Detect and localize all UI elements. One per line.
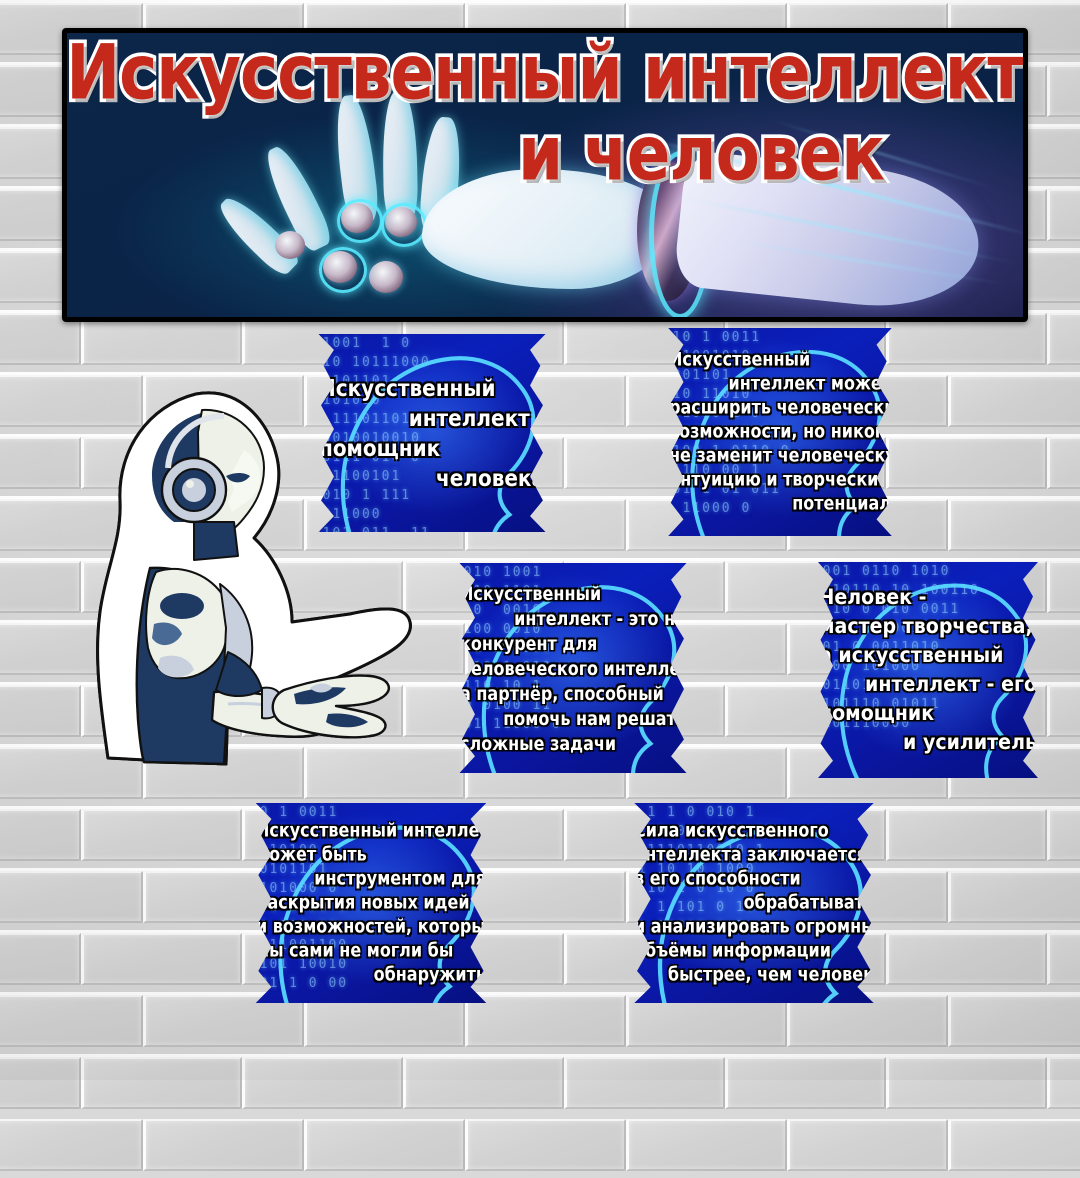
wall-tile	[1047, 189, 1080, 241]
info-card: 1001 0110 1010 10010110 10 100110 0110 0…	[803, 562, 1053, 778]
wall-tile	[0, 995, 143, 1047]
card-text: Человек -мастер творчества,а искусственн…	[803, 562, 1053, 778]
wall-tile	[0, 871, 143, 923]
card-line: сложные задачи	[460, 729, 616, 758]
wall-tile	[948, 871, 1080, 923]
tile-row	[0, 992, 1080, 1054]
wall-tile	[465, 995, 626, 1047]
wall-tile	[886, 1057, 1047, 1109]
card-line: Искусственный	[460, 579, 601, 608]
wall-tile	[725, 1057, 886, 1109]
robot-hand-image	[217, 91, 917, 321]
card-line: интеллект - это не	[514, 604, 686, 633]
wall-tile	[564, 1057, 725, 1109]
info-card: 0 1 0011 0 0001 1 11 10100 010101101 0 1…	[240, 803, 502, 1003]
wall-tile	[0, 809, 81, 861]
wall-tile	[0, 933, 81, 985]
card-line: быстрее, чем человек	[668, 961, 874, 988]
wall-tile	[787, 1119, 948, 1171]
wall-tile	[948, 375, 1080, 427]
card-text: Искусственный интеллектможет бытьинструм…	[240, 803, 502, 1003]
tile-row	[0, 1116, 1080, 1178]
poster-banner: Искусственный интеллект и человек	[62, 28, 1028, 322]
wall-tile	[948, 499, 1080, 551]
wall-tile	[1047, 809, 1080, 861]
wall-tile	[886, 437, 1047, 489]
wall-tile	[0, 685, 81, 737]
wall-tile	[0, 437, 81, 489]
card-line: и усилитель	[903, 726, 1037, 759]
wall-tile	[886, 809, 1047, 861]
wall-tile	[1047, 437, 1080, 489]
wall-tile	[143, 1119, 304, 1171]
wall-tile	[0, 1057, 81, 1109]
tile-row	[0, 1054, 1080, 1116]
card-line: а партнёр, способный	[460, 679, 664, 708]
wall-tile	[948, 1119, 1080, 1171]
wall-tile	[465, 1119, 626, 1171]
info-card: 1001 1 0 0110 10111000 010101101 0 10100…	[303, 334, 561, 532]
wall-tile	[1047, 933, 1080, 985]
wall-tile	[0, 561, 81, 613]
wall-tile	[304, 1119, 465, 1171]
card-line: конкурент для	[460, 629, 597, 658]
wall-tile	[81, 1057, 242, 1109]
card-line: обнаружить	[374, 961, 486, 988]
wall-tile	[403, 1057, 564, 1109]
info-card: 010 1001 0010 1101 010 0010 0100 0010 10…	[444, 563, 702, 773]
wall-tile	[1047, 313, 1080, 365]
tile-row	[0, 806, 1080, 868]
wall-tile	[242, 1057, 403, 1109]
info-card: 010 1 0011 01 1001010 1001101 010 11010 …	[653, 328, 907, 536]
wall-tile	[626, 1119, 787, 1171]
card-line: помощник	[319, 431, 440, 465]
card-text: Искусственныйинтеллект можетрасширить че…	[653, 328, 907, 536]
wall-tile	[1047, 685, 1080, 737]
tile-row	[0, 868, 1080, 930]
card-text: Искусственныйинтеллект - это неконкурент…	[444, 563, 702, 773]
tile-row	[0, 930, 1080, 992]
wall-tile	[1047, 561, 1080, 613]
card-text: Сила искусственногоинтеллекта заключаетс…	[618, 803, 890, 1003]
card-line: помочь нам решать	[503, 704, 686, 733]
wall-tile	[1047, 1057, 1080, 1109]
card-text: Искусственныйинтеллект -помощникчеловека	[303, 334, 561, 532]
card-line: человеческого интеллекта,	[460, 654, 702, 683]
wall-tile	[81, 809, 242, 861]
wall-tile	[948, 995, 1080, 1047]
wall-tile	[465, 871, 626, 923]
wall-tile	[81, 933, 242, 985]
wall-tile	[1047, 65, 1080, 117]
wall-tile	[886, 933, 1047, 985]
card-line: потенциал	[792, 490, 891, 517]
info-card: 0 1 1 0 010 1 0100 0 0 1 1 00 11 1110110…	[618, 803, 890, 1003]
wall-tile	[0, 1119, 143, 1171]
card-line: человека	[436, 461, 545, 495]
